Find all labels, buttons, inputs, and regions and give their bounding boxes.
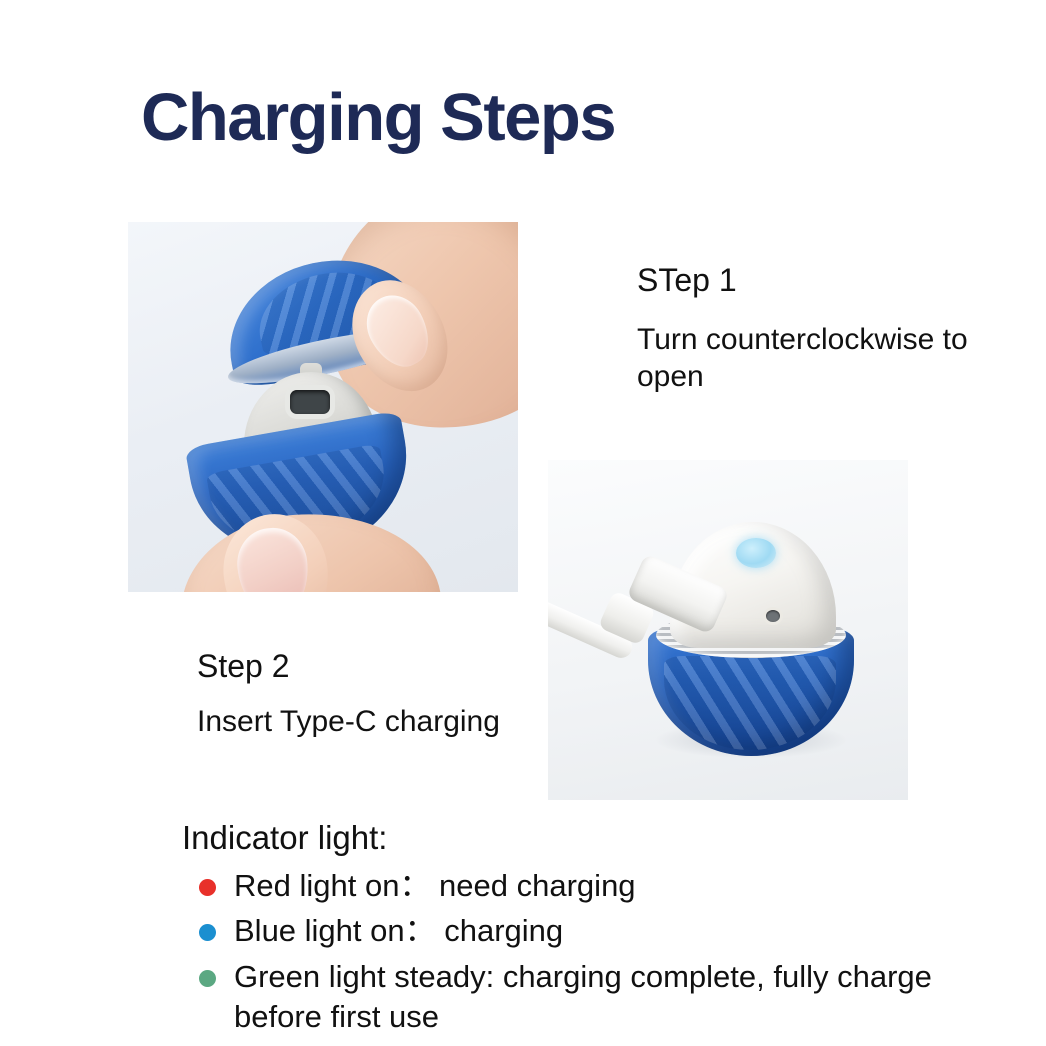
step-2-photo — [548, 460, 908, 800]
indicator-led-icon — [736, 538, 776, 568]
step-2-text-block: Step 2 Insert Type-C charging — [197, 648, 527, 740]
charging-port — [290, 390, 330, 414]
step-1-body: Turn counterclockwise to open — [637, 321, 1017, 396]
green-light-dot-icon — [199, 970, 216, 987]
list-item-label: Red light on： need charging — [234, 866, 982, 906]
list-item-label: Green light steady: charging complete, f… — [234, 957, 982, 1036]
step-1-photo — [128, 222, 518, 592]
step-1-heading: STep 1 — [637, 262, 1017, 299]
indicator-light-list: Red light on： need charging Blue light o… — [182, 866, 982, 1037]
indicator-light-block: Indicator light: Red light on： need char… — [182, 818, 982, 1036]
step-2-body: Insert Type-C charging — [197, 703, 527, 741]
blue-light-dot-icon — [199, 924, 216, 941]
step-1-text-block: STep 1 Turn counterclockwise to open — [637, 262, 1017, 396]
red-light-dot-icon — [199, 879, 216, 896]
sensor-hole — [766, 610, 780, 622]
list-item: Green light steady: charging complete, f… — [182, 957, 982, 1036]
list-item-label: Blue light on： charging — [234, 911, 982, 951]
list-item: Blue light on： charging — [182, 911, 982, 951]
indicator-light-title: Indicator light: — [182, 818, 982, 858]
step-2-heading: Step 2 — [197, 648, 527, 685]
infographic-page: Charging Steps STep 1 Turn counterclockw — [0, 0, 1046, 1046]
list-item: Red light on： need charging — [182, 866, 982, 906]
page-title: Charging Steps — [141, 81, 615, 155]
